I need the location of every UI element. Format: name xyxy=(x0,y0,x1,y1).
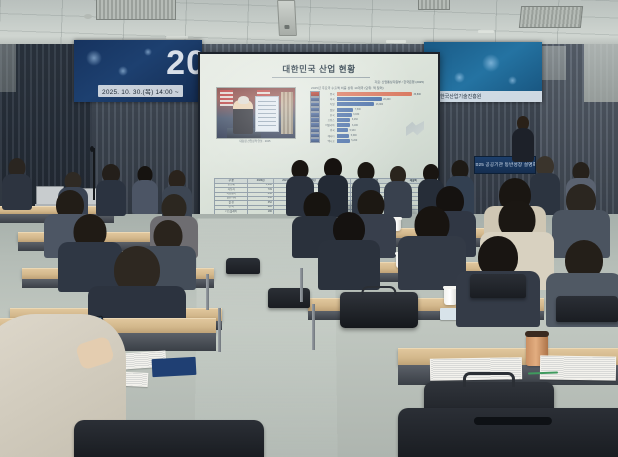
ceiling-light xyxy=(386,40,406,43)
photo-document xyxy=(255,96,279,132)
wall-panel xyxy=(540,46,566,80)
camera-icon xyxy=(90,146,94,152)
banner-left: 20 2025. 10. 30.(목) 14:00 ~ xyxy=(74,40,202,102)
chart-bar xyxy=(337,128,349,132)
chart-value-label: 5,200 xyxy=(351,139,357,142)
slide-photo xyxy=(216,87,296,139)
chair-foreground xyxy=(74,420,264,457)
chart-title: 2025년 주요국 수출액 비중 상위 10개국 (단위: 억 달러) xyxy=(311,86,428,90)
smoke-detector-icon xyxy=(84,14,92,19)
slide-photo-caption: 대통령 산업정책 연설 · 2025 xyxy=(216,139,294,143)
wall-panel xyxy=(584,44,618,102)
slide-bar-chart: 2025년 주요국 수출액 비중 상위 10개국 (단위: 억 달러) 중국33… xyxy=(310,86,428,138)
chart-value-label: 20,200 xyxy=(383,98,390,101)
handout-paper xyxy=(540,355,616,380)
chart-value-label: 5,930 xyxy=(350,129,356,132)
chart-bar xyxy=(337,134,350,138)
ceiling-light xyxy=(478,30,494,33)
chart-category-label: 한국 xyxy=(322,113,335,117)
ceiling-light xyxy=(166,36,188,39)
chart-category-label: 독일 xyxy=(322,102,335,106)
chart-bar xyxy=(337,102,375,106)
chart-value-label: 6,180 xyxy=(352,124,358,127)
chart-bar-row: 중국33,800 xyxy=(310,92,428,96)
photo-background-columns xyxy=(281,92,293,134)
country-flag-icon xyxy=(310,138,320,143)
presenter xyxy=(512,116,534,160)
chart-bar xyxy=(337,92,413,96)
chart-bar xyxy=(337,139,350,143)
chart-value-label: 33,800 xyxy=(414,93,421,96)
chart-value-label: 6,830 xyxy=(353,113,359,116)
chart-category-label: 중국 xyxy=(322,92,335,96)
chart-bar-row: 일본7,500 xyxy=(310,108,428,112)
slide-title-underline xyxy=(272,77,370,78)
slide-source-note: 자료: 산업통상자원부 / 한국은행 (2025) xyxy=(374,80,424,84)
podium-sign-text: 2025 공공기관 동반성장 설명회 xyxy=(474,162,536,168)
banner-right-logo-text: 한국산업기술진흥원 xyxy=(440,93,481,100)
banner-left-big-text: 20 xyxy=(166,44,202,83)
chart-bar xyxy=(337,123,351,127)
banner-left-date-text: 2025. 10. 30.(목) 14:00 ~ xyxy=(102,86,179,96)
chart-value-label: 5,690 xyxy=(351,134,357,137)
backpack xyxy=(340,292,418,328)
banner-right: 한국산업기술진흥원 xyxy=(424,42,542,102)
chart-value-label: 6,260 xyxy=(352,118,358,121)
chart-bar-row: 캐나다5,690 xyxy=(310,134,428,138)
desk-leg xyxy=(312,304,315,350)
desk-leg xyxy=(300,268,303,302)
chart-category-label: 영국 xyxy=(322,128,335,132)
slide-title: 대한민국 산업 현황 xyxy=(200,63,438,75)
chart-category-label: 일본 xyxy=(322,108,335,112)
desk-leg xyxy=(206,274,209,310)
chart-bars-container: 중국33,800미국20,200독일16,900일본7,500한국6,830프랑… xyxy=(310,92,428,143)
chart-bar-row: 한국6,830 xyxy=(310,113,428,117)
chart-bar xyxy=(337,118,351,122)
chart-category-label: 이탈리아 xyxy=(322,123,335,127)
chart-bar-row: 프랑스6,260 xyxy=(310,118,428,122)
chart-bar-row: 미국20,200 xyxy=(310,97,428,101)
banner-left-date: 2025. 10. 30.(목) 14:00 ~ xyxy=(98,85,183,97)
chart-bar-row: 멕시코5,200 xyxy=(310,139,428,143)
hvac-vent xyxy=(519,6,583,28)
chart-value-label: 16,900 xyxy=(376,103,383,106)
photo-speaker xyxy=(233,100,253,134)
chair-foreground xyxy=(398,408,618,457)
chart-category-label: 멕시코 xyxy=(322,139,335,143)
hvac-vent xyxy=(418,0,450,10)
operator-person xyxy=(2,158,32,208)
chair xyxy=(268,288,310,308)
desk-leg xyxy=(218,308,221,352)
chart-category-label: 캐나다 xyxy=(322,134,335,138)
chair xyxy=(226,258,260,274)
hvac-vent xyxy=(96,0,176,20)
banner-right-logo-strip: 한국산업기술진흥원 xyxy=(424,91,542,102)
chart-value-label: 7,500 xyxy=(355,108,361,111)
seminar-room-photo: 20 2025. 10. 30.(목) 14:00 ~ 한국산업기술진흥원 20… xyxy=(0,0,618,457)
chart-category-label: 미국 xyxy=(322,97,335,101)
wall-panel xyxy=(0,44,16,92)
chart-bar xyxy=(337,108,354,112)
chart-bar xyxy=(337,97,382,101)
chart-category-label: 프랑스 xyxy=(322,118,335,122)
chart-bar xyxy=(337,113,352,117)
chair xyxy=(556,296,618,322)
ceiling-projector xyxy=(277,0,297,36)
chair xyxy=(470,274,526,298)
chart-bar-row: 독일16,900 xyxy=(310,102,428,106)
audience-person xyxy=(318,212,380,284)
name-badge-lanyard xyxy=(152,357,197,377)
audience-person xyxy=(96,164,126,214)
